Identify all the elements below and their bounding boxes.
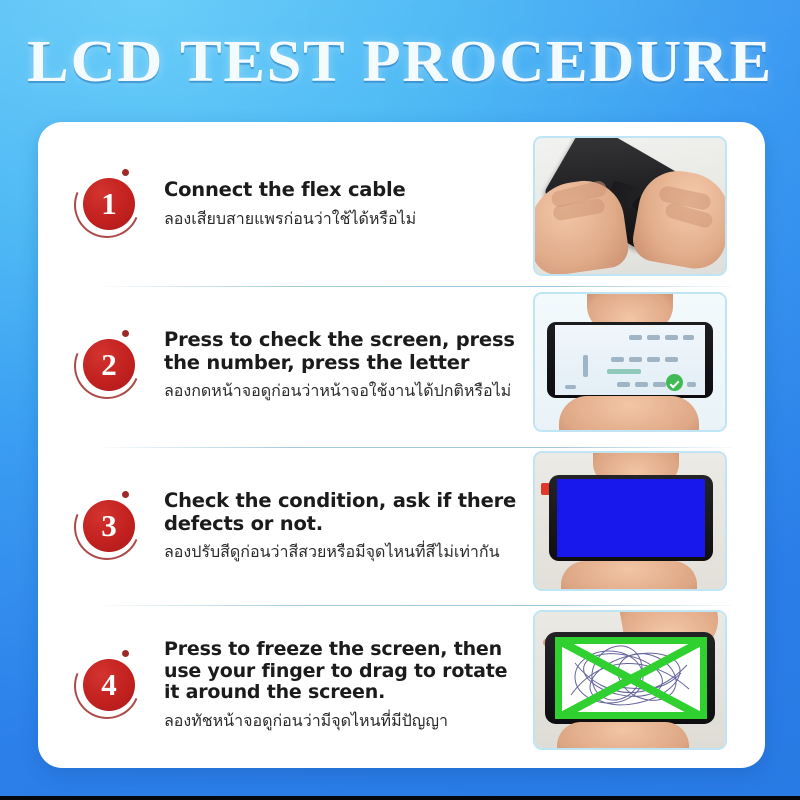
step-text-block-1: Connect the flex cable ลองเสียบสายแพรก่อ… [156,179,532,228]
step-text-block-4: Press to freeze the screen, then use you… [156,639,532,730]
lcd-test-procedure-infographic: LCD TEST PROCEDURE 1 Connect the flex ca… [0,0,800,800]
step-badge-3: 3 [72,490,144,562]
phone-screen-keypad-test [555,325,705,395]
step-photo-3 [533,451,727,591]
step-number: 4 [101,669,117,700]
step-photo-1 [533,136,727,276]
green-border-frame [555,637,707,719]
step-subtitle-thai: ลองทัชหน้าจอดูก่อนว่ามีจุดไหนที่มีปัญญา [164,711,524,731]
badge-dot-icon [122,169,129,176]
step-badge-1: 1 [72,168,144,240]
hand-bottom-graphic [561,561,697,591]
badge-circle: 3 [83,500,135,552]
badge-circle: 1 [83,178,135,230]
badge-circle: 4 [83,659,135,711]
step-number: 2 [101,349,117,380]
step-photo-4 [533,610,727,750]
step-badge-2: 2 [72,329,144,401]
phone-screen-blue-color-test [557,479,705,557]
step-title: Press to freeze the screen, then use you… [164,639,524,703]
step-title: Connect the flex cable [164,179,524,201]
step-photo-2 [533,292,727,432]
step-subtitle-thai: ลองเสียบสายแพรก่อนว่าใช้ได้หรือไม่ [164,209,524,229]
hand-bottom-graphic [559,396,699,432]
bottom-black-bar [0,796,800,800]
badge-circle: 2 [83,339,135,391]
step-badge-4: 4 [72,649,144,721]
step-number: 1 [101,188,117,219]
step-title: Press to check the screen, press the num… [164,329,524,373]
step-title: Check the condition, ask if there defect… [164,490,524,534]
steps-card: 1 Connect the flex cable ลองเสียบสายแพรก… [38,122,765,768]
hand-bottom-graphic [557,722,689,750]
step-text-block-2: Press to check the screen, press the num… [156,329,532,400]
phone-screen-touch-test [555,637,707,719]
step-number: 3 [101,510,117,541]
step-subtitle-thai: ลองปรับสีดูก่อนว่าสีสวยหรือมีจุดไหนที่สี… [164,542,524,562]
green-check-icon [666,374,683,391]
page-title: LCD TEST PROCEDURE [0,27,800,96]
badge-dot-icon [122,650,129,657]
badge-dot-icon [122,330,129,337]
badge-dot-icon [122,491,129,498]
step-subtitle-thai: ลองกดหน้าจอดูก่อนว่าหน้าจอใช้งานได้ปกติห… [164,381,524,401]
step-text-block-3: Check the condition, ask if there defect… [156,490,532,561]
